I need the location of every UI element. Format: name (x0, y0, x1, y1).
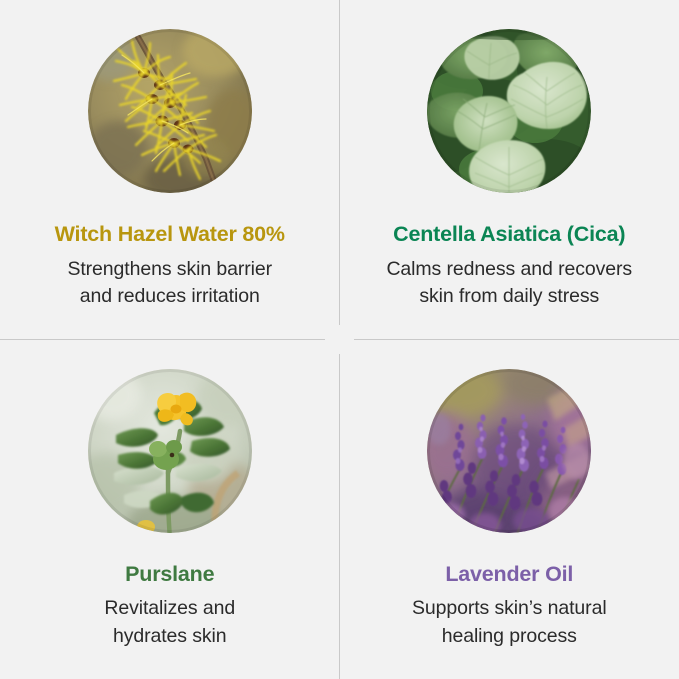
ingredient-cell-witch-hazel: Witch Hazel Water 80% Strengthens skin b… (0, 0, 340, 340)
lavender-field-photo (427, 369, 591, 533)
ingredient-title: Centella Asiatica (Cica) (393, 223, 625, 247)
ingredient-cell-purslane: Purslane Revitalizes and hydrates skin (0, 340, 340, 679)
description-line-1: Revitalizes and (104, 595, 235, 623)
ingredient-title: Witch Hazel Water 80% (55, 223, 285, 247)
description-line-2: and reduces irritation (67, 283, 272, 311)
witch-hazel-flower-photo (88, 29, 252, 193)
ingredient-title: Lavender Oil (445, 563, 573, 587)
ingredient-description: Supports skin’s natural healing process (412, 595, 607, 650)
centella-asiatica-leaves-photo (427, 29, 591, 193)
ingredient-title: Purslane (125, 563, 214, 587)
ingredient-description: Strengthens skin barrier and reduces irr… (67, 256, 272, 311)
ingredient-cell-lavender-oil: Lavender Oil Supports skin’s natural hea… (340, 340, 679, 679)
ingredient-cell-centella-asiatica: Centella Asiatica (Cica) Calms redness a… (340, 0, 679, 340)
description-line-2: healing process (412, 623, 607, 651)
ingredient-description: Calms redness and recovers skin from dai… (386, 256, 632, 311)
ingredient-description: Revitalizes and hydrates skin (104, 595, 235, 650)
description-line-1: Calms redness and recovers (386, 256, 632, 284)
ingredient-grid: Witch Hazel Water 80% Strengthens skin b… (0, 0, 679, 679)
divider-center-gap (325, 325, 354, 354)
description-line-2: skin from daily stress (386, 283, 632, 311)
description-line-1: Supports skin’s natural (412, 595, 607, 623)
description-line-2: hydrates skin (104, 623, 235, 651)
description-line-1: Strengthens skin barrier (67, 256, 272, 284)
purslane-plant-photo (88, 369, 252, 533)
